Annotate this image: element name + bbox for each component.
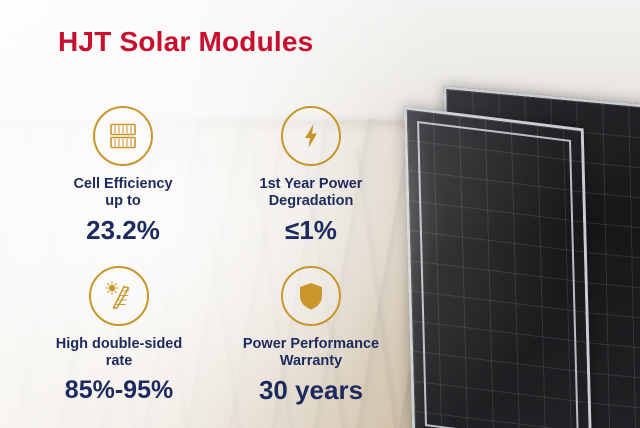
feature-double-sided-rate: High double-sided rate 85%-95% xyxy=(24,266,214,405)
feature-value: ≤1% xyxy=(216,215,406,245)
poster-canvas: HJT Solar Modules xyxy=(0,0,640,428)
feature-cell-efficiency: Cell Efficiency up to 23.2% xyxy=(28,106,218,245)
feature-first-year-degradation: 1st Year Power Degradation ≤1% xyxy=(216,106,406,245)
feature-value: 23.2% xyxy=(28,215,218,245)
shield-icon xyxy=(281,266,341,326)
feature-power-warranty: Power Performance Warranty 30 years xyxy=(216,266,406,405)
feature-label: High double-sided rate xyxy=(24,336,214,370)
bifacial-sun-icon xyxy=(89,266,149,326)
feature-label: Cell Efficiency up to xyxy=(28,176,218,210)
feature-label: 1st Year Power Degradation xyxy=(216,176,406,210)
feature-value: 85%-95% xyxy=(24,375,214,405)
page-title: HJT Solar Modules xyxy=(58,26,313,58)
feature-label: Power Performance Warranty xyxy=(216,336,406,370)
solar-cell-icon xyxy=(93,106,153,166)
feature-value: 30 years xyxy=(216,375,406,405)
lightning-bolt-icon xyxy=(281,106,341,166)
